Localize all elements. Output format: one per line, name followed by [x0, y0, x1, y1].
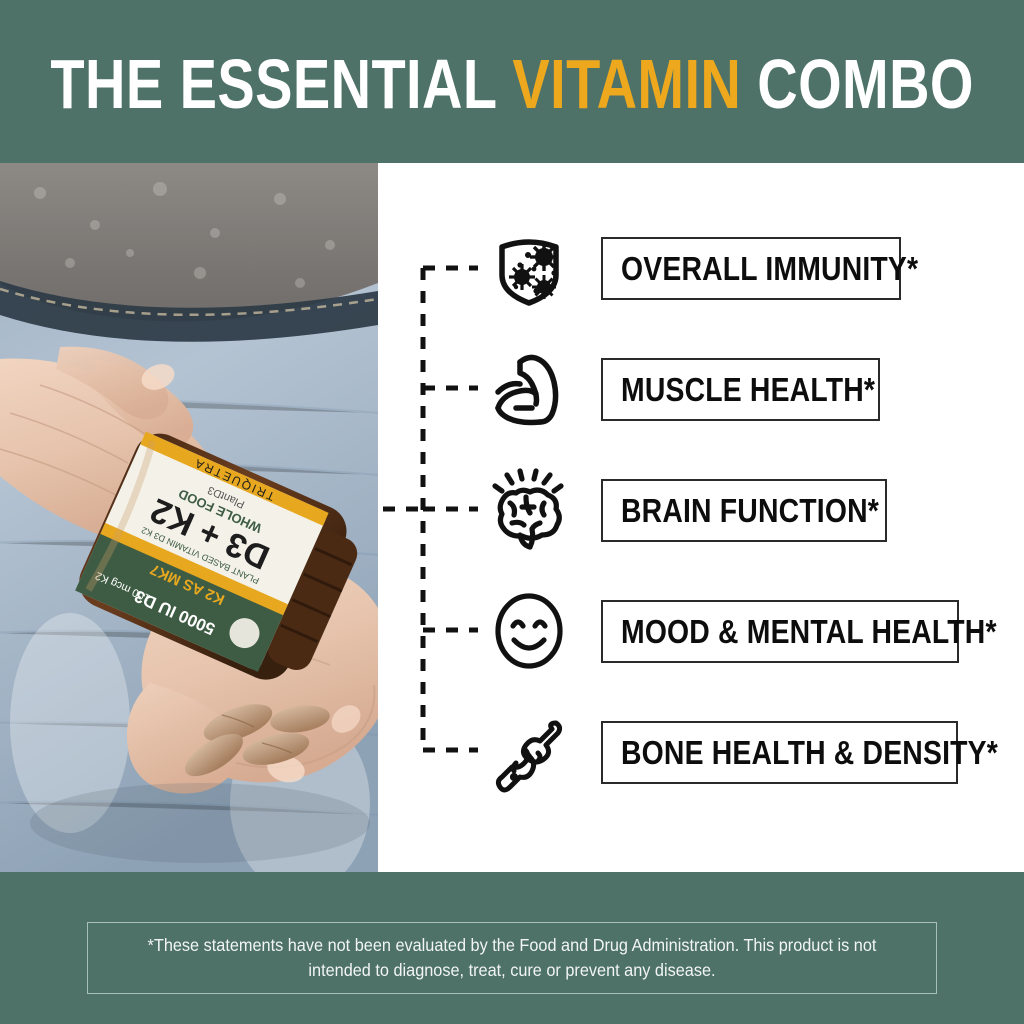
- title-part-two: COMBO: [741, 45, 974, 123]
- brain-icon: [483, 464, 575, 556]
- header-band: THE ESSENTIAL VITAMIN COMBO: [0, 0, 1024, 163]
- flexed-bicep-icon: [483, 343, 575, 435]
- infographic-poster: THE ESSENTIAL VITAMIN COMBO: [0, 0, 1024, 1024]
- benefit-label: BRAIN FUNCTION*: [621, 494, 879, 527]
- benefit-label: MUSCLE HEALTH*: [621, 373, 875, 406]
- benefit-box-mood[interactable]: MOOD & MENTAL HEALTH*: [601, 600, 959, 663]
- title-accent-word: VITAMIN: [512, 45, 741, 123]
- disclaimer-text: *These statements have not been evaluate…: [140, 933, 884, 984]
- bone-joint-icon: [483, 706, 575, 798]
- benefit-box-brain[interactable]: BRAIN FUNCTION*: [601, 479, 887, 542]
- benefit-box-bone[interactable]: BONE HEALTH & DENSITY*: [601, 721, 958, 784]
- product-photo: 5000 IU D3 100 mcg K2 K2 AS MK7 PLANT BA…: [0, 163, 378, 872]
- title-part-one: THE ESSENTIAL: [50, 45, 512, 123]
- benefit-box-immunity[interactable]: OVERALL IMMUNITY*: [601, 237, 901, 300]
- benefit-box-muscle[interactable]: MUSCLE HEALTH*: [601, 358, 880, 421]
- shield-virus-icon: [483, 222, 575, 314]
- benefit-label: BONE HEALTH & DENSITY*: [621, 736, 998, 769]
- benefit-row-immunity[interactable]: OVERALL IMMUNITY*: [483, 222, 901, 314]
- benefit-row-bone[interactable]: BONE HEALTH & DENSITY*: [483, 706, 958, 798]
- benefit-row-muscle[interactable]: MUSCLE HEALTH*: [483, 343, 880, 435]
- smiley-face-icon: [483, 585, 575, 677]
- product-photo-illustration: 5000 IU D3 100 mcg K2 K2 AS MK7 PLANT BA…: [0, 163, 378, 872]
- page-title: THE ESSENTIAL VITAMIN COMBO: [50, 49, 973, 119]
- footer-band: *These statements have not been evaluate…: [0, 872, 1024, 1024]
- benefit-label: MOOD & MENTAL HEALTH*: [621, 615, 997, 648]
- benefit-row-brain[interactable]: BRAIN FUNCTION*: [483, 464, 887, 556]
- benefit-row-mood[interactable]: MOOD & MENTAL HEALTH*: [483, 585, 959, 677]
- disclaimer-box: *These statements have not been evaluate…: [87, 922, 937, 994]
- benefit-label: OVERALL IMMUNITY*: [621, 252, 918, 285]
- benefits-list: OVERALL IMMUNITY* MUSCLE HEALT: [378, 163, 1024, 872]
